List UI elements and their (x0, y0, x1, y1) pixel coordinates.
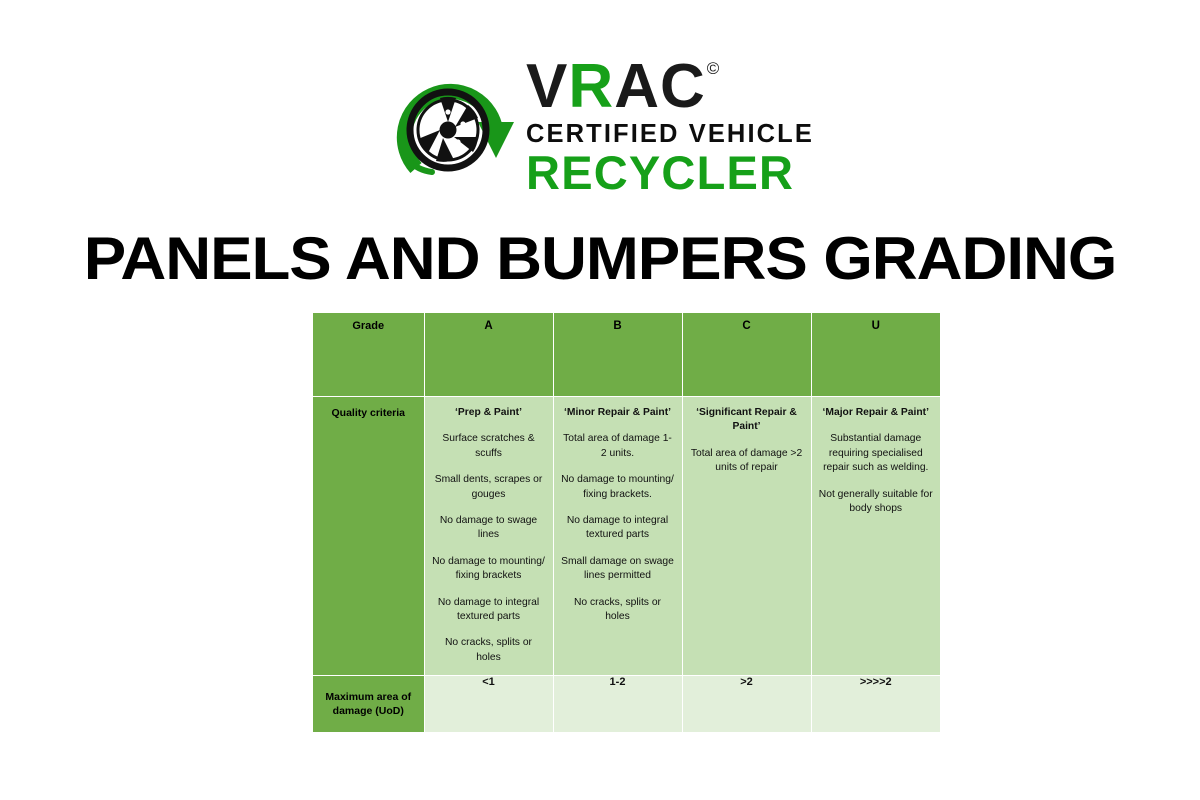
logo-wordmark: VRAC© CERTIFIED VEHICLE RECYCLER (526, 56, 814, 196)
criteria-heading-a: ‘Prep & Paint’ (432, 406, 546, 420)
header-cell-grade-a: A (424, 313, 553, 397)
max-area-value-u: >>>>2 (811, 676, 940, 733)
logo-group: VRAC© CERTIFIED VEHICLE RECYCLER (386, 56, 814, 196)
copyright-icon: © (707, 60, 721, 77)
max-area-value-a: <1 (424, 676, 553, 733)
criteria-heading-b: ‘Minor Repair & Paint’ (561, 406, 675, 420)
criteria-point-b-2: No damage to mounting/ fixing brackets. (561, 473, 675, 502)
logo-tagline: CERTIFIED VEHICLE (526, 122, 814, 148)
table-header-row: Grade A B C U (313, 313, 940, 397)
grading-table-container: Grade A B C U Quality criteria ‘Prep & P… (313, 313, 940, 732)
table-row-maximum-area: Maximum area of damage (UoD) <1 1-2 >2 >… (313, 676, 940, 733)
logo-brand-name: VRAC© (526, 58, 719, 117)
row-label-maximum-area: Maximum area of damage (UoD) (313, 676, 424, 733)
criteria-cell-grade-c: ‘Significant Repair & Paint’ Total area … (682, 397, 811, 676)
max-area-value-b: 1-2 (553, 676, 682, 733)
criteria-heading-u: ‘Major Repair & Paint’ (819, 406, 934, 420)
criteria-point-a-6: No cracks, splits or holes (432, 636, 546, 665)
logo-letters-ac: AC (614, 58, 706, 117)
header-cell-grade-c: C (682, 313, 811, 397)
criteria-point-a-4: No damage to mounting/ fixing brackets (432, 555, 546, 584)
criteria-cell-grade-b: ‘Minor Repair & Paint’ Total area of dam… (553, 397, 682, 676)
page-title: PANELS AND BUMPERS GRADING (0, 224, 1200, 293)
criteria-point-b-1: Total area of damage 1-2 units. (561, 432, 675, 461)
criteria-point-a-2: Small dents, scrapes or gouges (432, 473, 546, 502)
header-cell-grade-b: B (553, 313, 682, 397)
logo-letter-v: V (526, 58, 568, 117)
row-label-quality-criteria: Quality criteria (313, 397, 424, 676)
table-row-quality-criteria: Quality criteria ‘Prep & Paint’ Surface … (313, 397, 940, 676)
criteria-point-u-2: Not generally suitable for body shops (819, 488, 934, 517)
criteria-cell-grade-u: ‘Major Repair & Paint’ Substantial damag… (811, 397, 940, 676)
criteria-point-b-4: Small damage on swage lines permitted (561, 555, 675, 584)
vrac-wheel-arrow-icon (386, 60, 518, 192)
criteria-heading-c: ‘Significant Repair & Paint’ (690, 406, 804, 435)
criteria-cell-grade-a: ‘Prep & Paint’ Surface scratches & scuff… (424, 397, 553, 676)
criteria-point-c-1: Total area of damage >2 units of repair (690, 447, 804, 476)
criteria-point-a-5: No damage to integral textured parts (432, 596, 546, 625)
logo-letter-r: R (568, 58, 614, 117)
panels-bumpers-grading-table: Grade A B C U Quality criteria ‘Prep & P… (313, 313, 940, 732)
brand-logo: VRAC© CERTIFIED VEHICLE RECYCLER (0, 56, 1200, 196)
criteria-point-b-5: No cracks, splits or holes (561, 596, 675, 625)
header-cell-grade-u: U (811, 313, 940, 397)
max-area-value-c: >2 (682, 676, 811, 733)
header-cell-grade: Grade (313, 313, 424, 397)
criteria-point-u-1: Substantial damage requiring specialised… (819, 432, 934, 475)
criteria-point-b-3: No damage to integral textured parts (561, 514, 675, 543)
logo-recycler-word: RECYCLER (526, 149, 794, 196)
criteria-point-a-3: No damage to swage lines (432, 514, 546, 543)
criteria-point-a-1: Surface scratches & scuffs (432, 432, 546, 461)
